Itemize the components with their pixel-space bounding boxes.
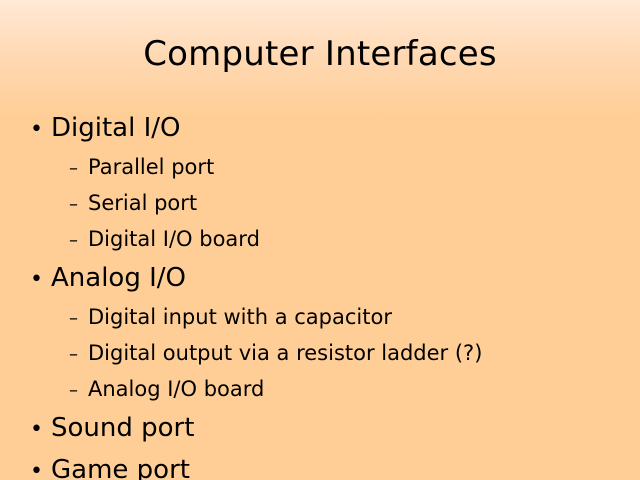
bullet-item: •Game port bbox=[0, 450, 640, 480]
bullet-label: Digital I/O board bbox=[88, 222, 260, 256]
bullet-item: –Analog I/O board bbox=[0, 372, 640, 408]
bullet-dot-icon: • bbox=[30, 110, 51, 150]
bullet-item: –Digital I/O board bbox=[0, 222, 640, 258]
bullet-dash-icon: – bbox=[69, 338, 88, 372]
bullet-item: •Digital I/O bbox=[0, 108, 640, 150]
bullet-item: –Serial port bbox=[0, 186, 640, 222]
bullet-label: Digital input with a capacitor bbox=[88, 300, 392, 334]
bullet-dash-icon: – bbox=[69, 374, 88, 408]
bullet-item: –Digital input with a capacitor bbox=[0, 300, 640, 336]
bullet-label: Parallel port bbox=[88, 150, 214, 184]
bullet-label: Analog I/O bbox=[51, 258, 186, 298]
bullet-dash-icon: – bbox=[69, 188, 88, 222]
bullet-item: •Sound port bbox=[0, 408, 640, 450]
bullet-dot-icon: • bbox=[30, 410, 51, 450]
bullet-dot-icon: • bbox=[30, 452, 51, 480]
bullet-dash-icon: – bbox=[69, 302, 88, 336]
bullet-item: •Analog I/O bbox=[0, 258, 640, 300]
bullet-dash-icon: – bbox=[69, 152, 88, 186]
bullet-dot-icon: • bbox=[30, 260, 51, 300]
bullet-dash-icon: – bbox=[69, 224, 88, 258]
bullet-item: –Parallel port bbox=[0, 150, 640, 186]
bullet-label: Game port bbox=[51, 450, 190, 480]
presentation-slide: Computer Interfaces •Digital I/O–Paralle… bbox=[0, 0, 640, 480]
bullet-outline: •Digital I/O–Parallel port–Serial port–D… bbox=[0, 108, 640, 480]
bullet-label: Sound port bbox=[51, 408, 194, 448]
bullet-label: Digital I/O bbox=[51, 108, 180, 148]
bullet-label: Analog I/O board bbox=[88, 372, 264, 406]
page-title: Computer Interfaces bbox=[0, 33, 640, 75]
bullet-item: –Digital output via a resistor ladder (?… bbox=[0, 336, 640, 372]
bullet-label: Serial port bbox=[88, 186, 197, 220]
bullet-label: Digital output via a resistor ladder (?) bbox=[88, 336, 482, 370]
